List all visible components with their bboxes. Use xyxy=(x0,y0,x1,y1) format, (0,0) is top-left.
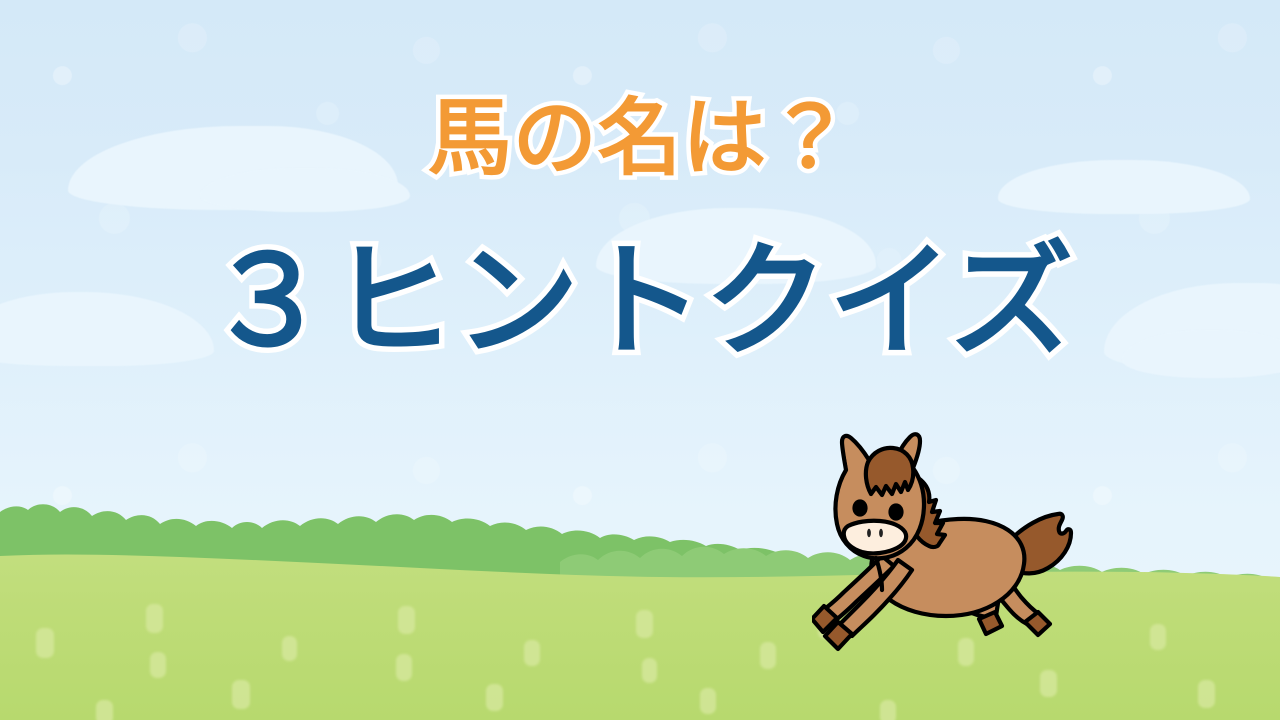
horse-eye-right xyxy=(888,503,903,520)
title-card-scene: 馬の名は？ ３ヒントクイズ xyxy=(0,0,1280,720)
subtitle-text: 馬の名は？ xyxy=(0,96,1280,180)
horse-forelock xyxy=(866,448,913,495)
horse-eye-left xyxy=(852,499,867,516)
main-title-text: ３ヒントクイズ xyxy=(0,240,1280,364)
horse-nostril-right xyxy=(879,529,883,537)
running-horse-illustration xyxy=(812,430,1084,666)
horse-hind-hoof-front xyxy=(979,612,1002,634)
horse-muzzle xyxy=(844,521,906,554)
horse-nostril-left xyxy=(867,529,871,537)
